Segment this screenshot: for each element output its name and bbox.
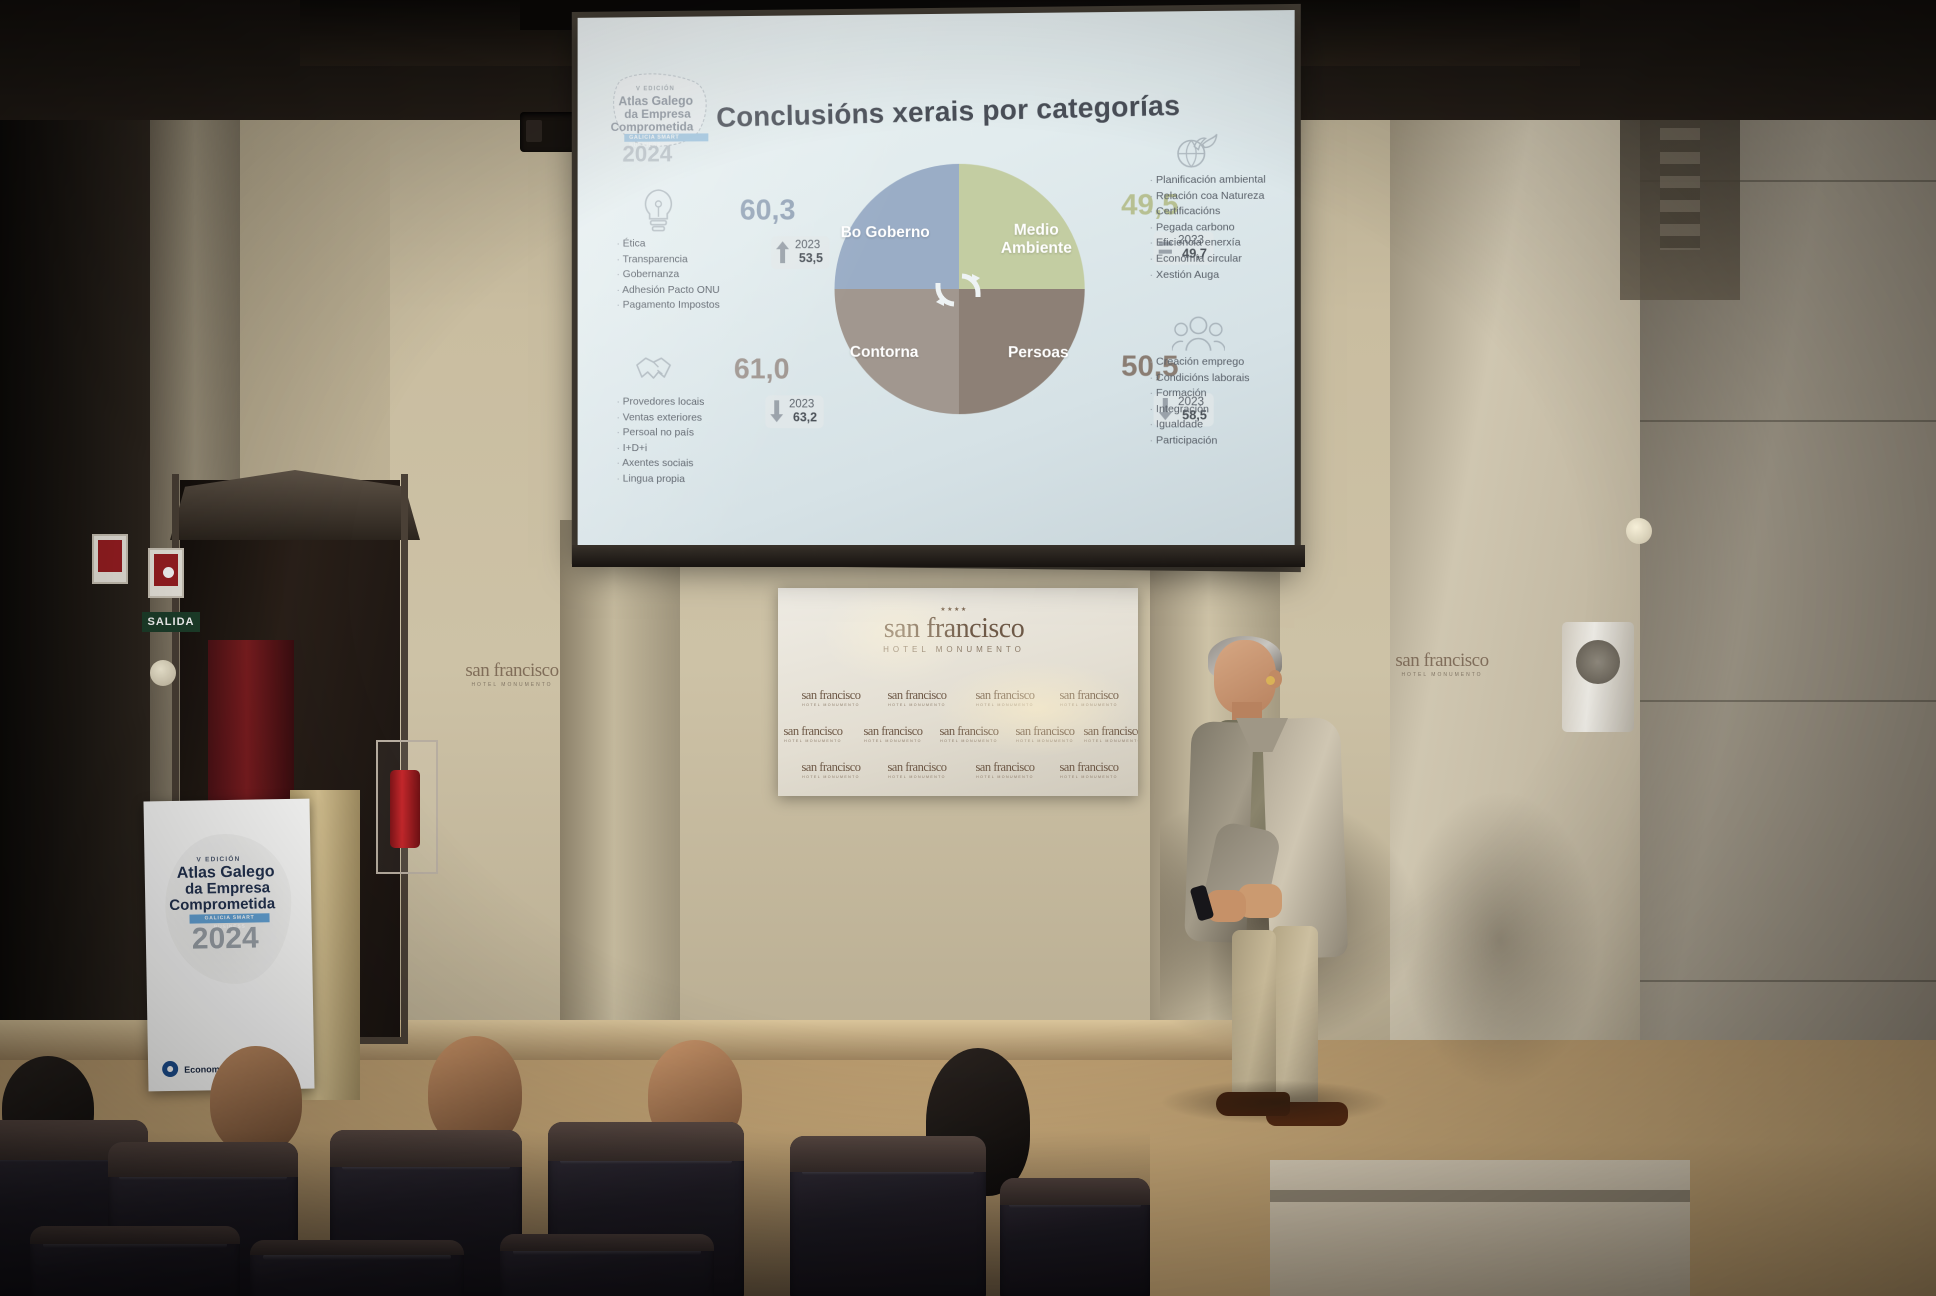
arrow-up-icon [776, 241, 789, 263]
value-contorna: 61,0 [734, 353, 790, 386]
conference-room-scene: SALIDA san francisco HOTEL MONUMENTO san… [0, 0, 1936, 1296]
step-edge [1270, 1190, 1690, 1202]
list-item: Xestión Auga [1150, 267, 1266, 283]
list-item: Creación emprego [1150, 355, 1250, 371]
loudspeaker [1562, 622, 1634, 732]
bullets-medio-ambiente: Planificación ambiental Relación coa Nat… [1150, 172, 1266, 283]
audience-chair [790, 1136, 986, 1296]
badge-value: 53,5 [795, 252, 823, 265]
audience-chair [250, 1240, 464, 1296]
pie-label-contorna: Contorna [835, 344, 934, 362]
list-item: Integración [1150, 402, 1250, 418]
fire-alarm-sign [92, 534, 128, 584]
pie-label-bo-goberno: Bo Goberno [840, 224, 930, 242]
podium-year: 2024 [192, 921, 259, 956]
sponsor-backdrop: ★★★★ san francisco HOTEL MONUMENTO san f… [778, 588, 1138, 796]
fire-extinguisher [390, 770, 420, 848]
wall-logo-right: san francisco HOTEL MONUMENTO [1382, 650, 1502, 678]
economia-social-logo-icon [162, 1061, 178, 1077]
value-bo-goberno: 60,3 [740, 195, 796, 228]
pillar-middle-left [560, 520, 680, 1040]
bullets-bo-goberno: Ética Transparencia Gobernanza Adhesión … [616, 236, 719, 313]
wall-logo-left: san francisco HOTEL MONUMENTO [452, 660, 572, 688]
list-item: Adhesión Pacto ONU [616, 283, 719, 298]
people-group-icon [1172, 314, 1225, 353]
list-item: Igualdade [1150, 417, 1250, 433]
handshake-icon [634, 349, 681, 385]
compare-badge-contorna: 2023 63,2 [765, 395, 824, 428]
slide-title: Conclusións xerais por categorías [716, 90, 1180, 134]
bullets-persoas: Creación emprego Condicións laborais For… [1150, 355, 1250, 450]
list-item: Ventas exteriores [616, 410, 704, 426]
compare-badge-bo-goberno: 2023 53,5 [771, 236, 830, 269]
projection-screen: V EDICIÓN Atlas Galego da Empresa Compro… [578, 10, 1295, 566]
slide-atlas-logo: V EDICIÓN Atlas Galego da Empresa Compro… [603, 68, 720, 154]
stone-joint [1640, 980, 1936, 982]
list-item: Relación coa Natureza [1150, 188, 1266, 204]
wall-logo-right-subtitle: HOTEL MONUMENTO [1382, 672, 1502, 678]
list-item: Planificación ambiental [1150, 172, 1266, 188]
bullets-contorna: Provedores locais Ventas exteriores Pers… [616, 395, 704, 488]
wall-shadow [1400, 790, 1600, 1090]
podium-line3: Comprometida [169, 895, 275, 914]
slide-logo-year: 2024 [622, 141, 672, 168]
podium-edition: V EDICIÓN [196, 856, 240, 864]
list-item: Provedores locais [616, 395, 704, 411]
arrow-down-icon [770, 400, 783, 422]
lightbulb-icon [638, 187, 679, 235]
audience-chair [1000, 1178, 1150, 1296]
recycle-arrows-icon [910, 242, 1006, 338]
list-item: Pegada carbono [1150, 220, 1266, 236]
wall-logo-left-subtitle: HOTEL MONUMENTO [452, 682, 572, 688]
wall-logo-left-name: san francisco [452, 660, 572, 682]
list-item: I+D+i [616, 441, 704, 457]
badge-value: 63,2 [789, 411, 817, 424]
list-item: Persoal no país [616, 425, 704, 441]
list-item: Participación [1150, 433, 1250, 449]
fire-hose-sign [148, 548, 184, 598]
pie-label-persoas: Persoas [990, 344, 1087, 362]
wall-lamp-right [1626, 518, 1652, 544]
list-item: Gobernanza [616, 267, 719, 282]
speaker-presenter [1180, 640, 1370, 1110]
list-item: Eficiencia enerxía [1150, 236, 1266, 252]
exit-sign: SALIDA [142, 612, 200, 632]
screen-bottom-bar [572, 545, 1305, 567]
steps [1270, 1160, 1690, 1296]
headset-microphone [1266, 676, 1275, 685]
wall-logo-right-name: san francisco [1382, 650, 1502, 672]
speaker-shadow [1160, 1080, 1390, 1124]
list-item: Axentes sociais [616, 456, 704, 472]
list-item: Pagamento Impostos [616, 298, 719, 314]
list-item: Condicións laborais [1150, 370, 1250, 386]
slide-logo-edition: V EDICIÓN [636, 86, 675, 92]
globe-leaf-icon [1172, 130, 1219, 171]
stone-joint [1640, 700, 1936, 702]
list-item: Transparencia [616, 252, 719, 268]
audience-chair [30, 1226, 240, 1296]
list-item: Economía circular [1150, 251, 1266, 267]
audience-chair [500, 1234, 714, 1296]
stone-joint [1640, 420, 1936, 422]
audience-head [210, 1046, 302, 1154]
list-item: Lingua propia [616, 472, 704, 488]
podium-banner: V EDICIÓN Atlas Galego da Empresa Compro… [143, 799, 314, 1092]
list-item: Formación [1150, 386, 1250, 402]
backdrop-light-reflection [778, 588, 1138, 796]
wall-lamp-left [150, 660, 176, 686]
slide-logo-line3: Comprometida [611, 120, 694, 134]
list-item: Certificacións [1150, 204, 1266, 220]
list-item: Ética [616, 236, 719, 252]
